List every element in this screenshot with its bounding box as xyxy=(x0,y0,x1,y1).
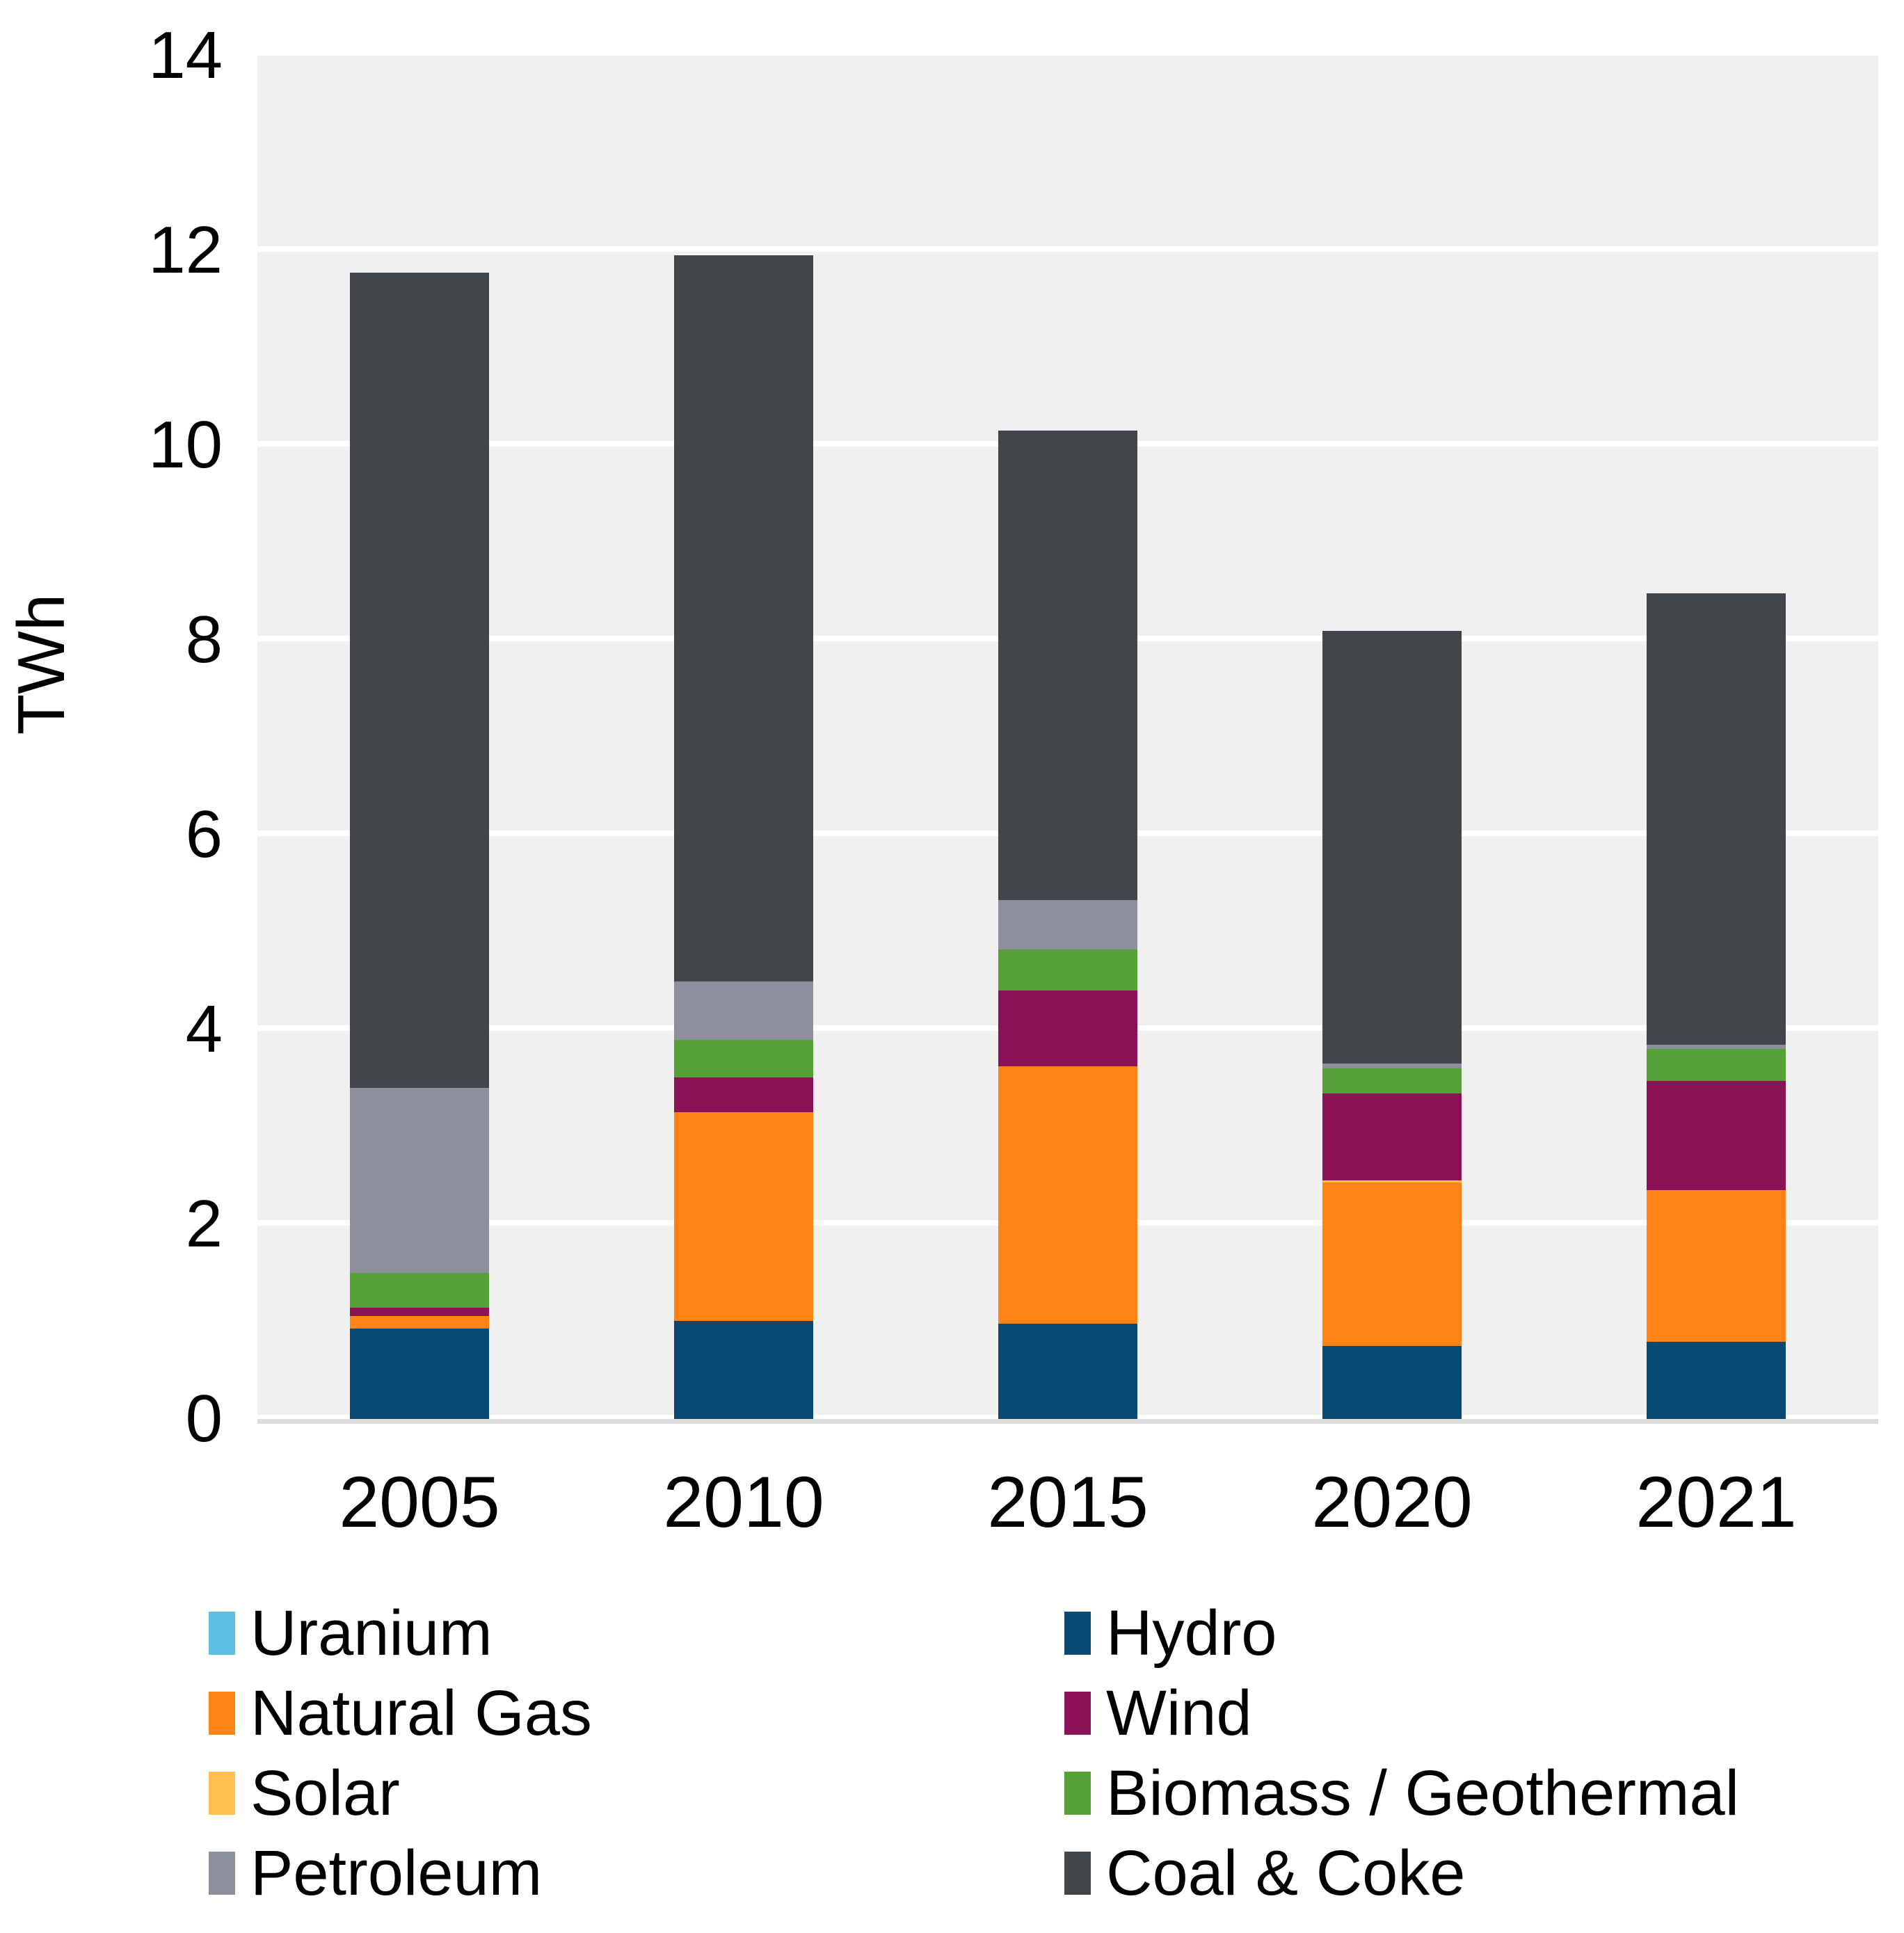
bar-slot-2021 xyxy=(1554,56,1878,1419)
legend-item-uranium[interactable]: Uranium xyxy=(209,1593,1030,1673)
bar-segment-coal-coke[interactable] xyxy=(1647,593,1786,1045)
y-axis-tick-label: 14 xyxy=(42,22,223,89)
bar-segment-petroleum[interactable] xyxy=(1322,1064,1462,1068)
legend-swatch-icon xyxy=(1064,1772,1091,1815)
bar-segment-coal-coke[interactable] xyxy=(1322,631,1462,1064)
y-axis-tick-label: 6 xyxy=(42,801,223,868)
bar-segment-natural-gas[interactable] xyxy=(674,1112,813,1321)
stacked-bar[interactable] xyxy=(350,273,489,1419)
y-axis-tick-label: 10 xyxy=(42,412,223,479)
bar-segment-wind[interactable] xyxy=(1647,1081,1786,1190)
stacked-bar[interactable] xyxy=(674,255,813,1419)
y-axis-tick-labels: 14121086420 xyxy=(28,0,223,1933)
legend-column-left: UraniumNatural GasSolarPetroleum xyxy=(209,1593,1030,1920)
y-axis-tick-label: 0 xyxy=(42,1386,223,1452)
bar-slot-2005 xyxy=(257,56,582,1419)
legend-swatch-icon xyxy=(209,1692,235,1735)
legend-item-biomass-geothermal[interactable]: Biomass / Geothermal xyxy=(1064,1753,1885,1833)
x-axis-tick-label: 2021 xyxy=(1554,1461,1878,1544)
bar-slot-2015 xyxy=(906,56,1230,1419)
chart-root: TWh 14121086420 20052010201520202021 Ura… xyxy=(0,0,1904,1933)
bar-segment-petroleum[interactable] xyxy=(1647,1045,1786,1049)
x-axis-line xyxy=(257,1419,1878,1424)
bar-segment-wind[interactable] xyxy=(350,1308,489,1315)
bar-segment-hydro[interactable] xyxy=(674,1321,813,1419)
bar-segment-biomass-geothermal[interactable] xyxy=(998,949,1137,990)
plot-area xyxy=(257,56,1878,1419)
x-axis-tick-labels: 20052010201520202021 xyxy=(257,1461,1878,1558)
bar-segment-natural-gas[interactable] xyxy=(350,1316,489,1329)
bar-segment-natural-gas[interactable] xyxy=(1647,1190,1786,1342)
legend-item-label: Natural Gas xyxy=(250,1678,592,1748)
legend-column-right: HydroWindBiomass / GeothermalCoal & Coke xyxy=(1064,1593,1885,1920)
bar-segment-hydro[interactable] xyxy=(998,1324,1137,1419)
bar-segment-biomass-geothermal[interactable] xyxy=(674,1040,813,1077)
legend-item-wind[interactable]: Wind xyxy=(1064,1673,1885,1753)
bar-segment-natural-gas[interactable] xyxy=(998,1066,1137,1324)
legend-item-label: Biomass / Geothermal xyxy=(1106,1758,1739,1828)
bar-segment-hydro[interactable] xyxy=(1647,1342,1786,1419)
legend-item-hydro[interactable]: Hydro xyxy=(1064,1593,1885,1673)
y-axis-tick-label: 4 xyxy=(42,996,223,1063)
bar-slot-2010 xyxy=(582,56,906,1419)
stacked-bar[interactable] xyxy=(1647,593,1786,1419)
bar-segment-petroleum[interactable] xyxy=(674,981,813,1040)
y-axis-tick-label: 2 xyxy=(42,1191,223,1258)
legend-item-label: Wind xyxy=(1106,1678,1252,1748)
bar-segment-biomass-geothermal[interactable] xyxy=(1647,1049,1786,1081)
legend-item-label: Uranium xyxy=(250,1598,493,1668)
bar-segment-wind[interactable] xyxy=(674,1077,813,1112)
y-axis-tick-label: 12 xyxy=(42,217,223,284)
x-axis-tick-label: 2015 xyxy=(906,1461,1230,1544)
legend-item-solar[interactable]: Solar xyxy=(209,1753,1030,1833)
legend-swatch-icon xyxy=(209,1612,235,1655)
legend-item-label: Coal & Coke xyxy=(1106,1838,1465,1908)
bar-segment-wind[interactable] xyxy=(1322,1093,1462,1180)
x-axis-tick-label: 2020 xyxy=(1230,1461,1554,1544)
legend-item-label: Petroleum xyxy=(250,1838,542,1908)
bar-segment-hydro[interactable] xyxy=(350,1329,489,1419)
legend-swatch-icon xyxy=(209,1772,235,1815)
legend: UraniumNatural GasSolarPetroleum HydroWi… xyxy=(209,1593,1843,1920)
bar-segment-natural-gas[interactable] xyxy=(1322,1182,1462,1346)
y-axis-tick-label: 8 xyxy=(42,607,223,673)
bar-segment-solar[interactable] xyxy=(1322,1180,1462,1182)
bar-segment-coal-coke[interactable] xyxy=(998,431,1137,900)
bar-segment-coal-coke[interactable] xyxy=(350,273,489,1088)
bar-segment-coal-coke[interactable] xyxy=(674,255,813,981)
legend-item-coal-coke[interactable]: Coal & Coke xyxy=(1064,1833,1885,1913)
bar-slot-2020 xyxy=(1230,56,1554,1419)
x-axis-tick-label: 2010 xyxy=(582,1461,906,1544)
bar-segment-petroleum[interactable] xyxy=(998,900,1137,949)
bar-segment-petroleum[interactable] xyxy=(350,1088,489,1273)
legend-item-label: Solar xyxy=(250,1758,400,1828)
legend-item-label: Hydro xyxy=(1106,1598,1277,1668)
legend-swatch-icon xyxy=(1064,1852,1091,1895)
legend-item-petroleum[interactable]: Petroleum xyxy=(209,1833,1030,1913)
bar-segment-biomass-geothermal[interactable] xyxy=(350,1273,489,1308)
bar-segment-hydro[interactable] xyxy=(1322,1346,1462,1419)
bar-segment-biomass-geothermal[interactable] xyxy=(1322,1068,1462,1093)
stacked-bar[interactable] xyxy=(998,431,1137,1419)
bar-segment-wind[interactable] xyxy=(998,990,1137,1066)
legend-swatch-icon xyxy=(1064,1692,1091,1735)
stacked-bar[interactable] xyxy=(1322,631,1462,1419)
legend-item-natural-gas[interactable]: Natural Gas xyxy=(209,1673,1030,1753)
legend-swatch-icon xyxy=(1064,1612,1091,1655)
x-axis-tick-label: 2005 xyxy=(257,1461,582,1544)
legend-swatch-icon xyxy=(209,1852,235,1895)
